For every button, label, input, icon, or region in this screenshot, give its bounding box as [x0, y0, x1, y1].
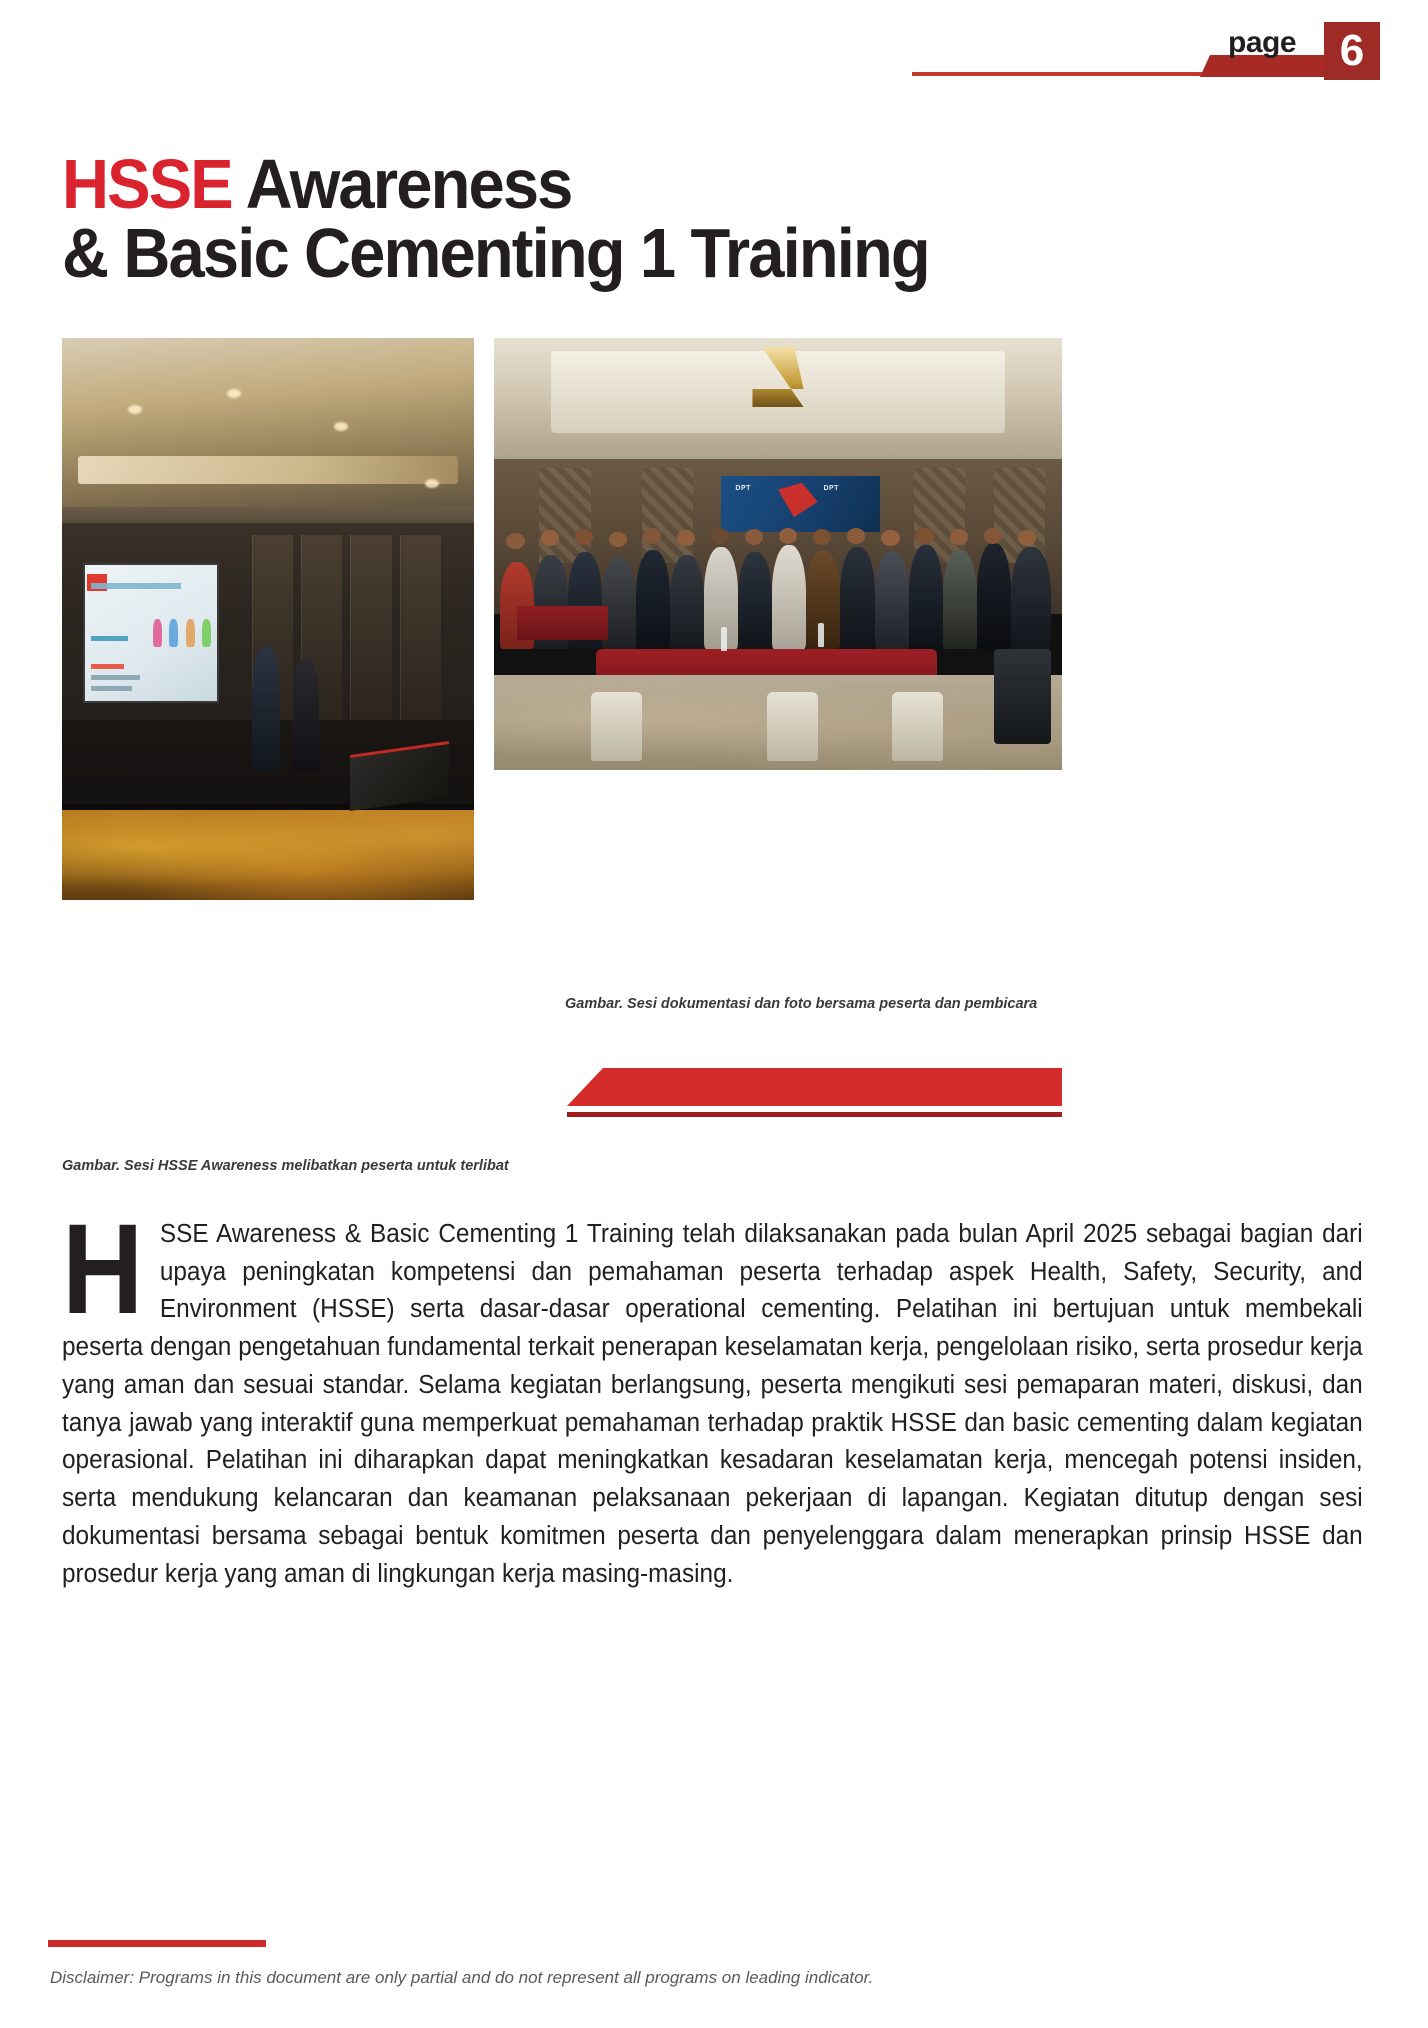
banner-underline [567, 1112, 1062, 1117]
photo-group-documentation: DPT DPT [494, 338, 1062, 770]
water-bottle [818, 623, 824, 647]
page-title: HSSE Awareness & Basic Cementing 1 Train… [62, 150, 1062, 289]
slide-figure-icon [169, 619, 178, 647]
slide-text-line [91, 686, 132, 690]
article-paragraph: SSE Awareness & Basic Cementing 1 Traini… [62, 1216, 1363, 1593]
slide-title-line [91, 583, 182, 589]
patterned-carpet [62, 810, 474, 900]
equipment-case [994, 649, 1051, 744]
title-line-1: HSSE Awareness [62, 150, 992, 219]
banner-brand-text: DPT [735, 485, 751, 492]
downlight-icon [425, 479, 439, 488]
footer-accent-rule [48, 1940, 266, 1947]
speaker-figure [252, 647, 281, 771]
wall-panel [400, 535, 441, 726]
banner-brand-text: DPT [823, 485, 839, 492]
chair [591, 692, 642, 761]
chair [767, 692, 818, 761]
slide-figure-icon [202, 619, 211, 647]
slide-figure-icon [153, 619, 162, 647]
page-header: page 6 [0, 0, 1428, 110]
caption-left-photo: Gambar. Sesi HSSE Awareness melibatkan p… [62, 1158, 509, 1174]
chair [892, 692, 943, 761]
ceiling-cove-light [78, 456, 457, 484]
slide-text-line [91, 664, 124, 669]
disclaimer-text: Disclaimer: Programs in this document ar… [50, 1968, 873, 1988]
water-bottle [721, 627, 727, 651]
photo-hsse-awareness-session [62, 338, 474, 900]
side-table [517, 606, 608, 641]
article-body: H SSE Awareness & Basic Cementing 1 Trai… [62, 1216, 1364, 1593]
slide-text-line [91, 675, 140, 679]
title-highlight: HSSE [62, 145, 232, 223]
downlight-icon [227, 389, 241, 398]
title-line-2: & Basic Cementing 1 Training [62, 219, 992, 288]
caption-right-photo: Gambar. Sesi dokumentasi dan foto bersam… [565, 996, 1037, 1012]
slide-text-line [91, 636, 128, 641]
decorative-red-banner [567, 1068, 1062, 1120]
slide-figure-icon [186, 619, 195, 647]
banner-parallelogram [567, 1068, 1062, 1106]
page-number: 6 [1324, 22, 1380, 80]
participant-figure [293, 658, 320, 770]
wall-panel [350, 535, 391, 726]
title-rest: Awareness [232, 145, 572, 223]
page-label: page [1228, 28, 1296, 58]
